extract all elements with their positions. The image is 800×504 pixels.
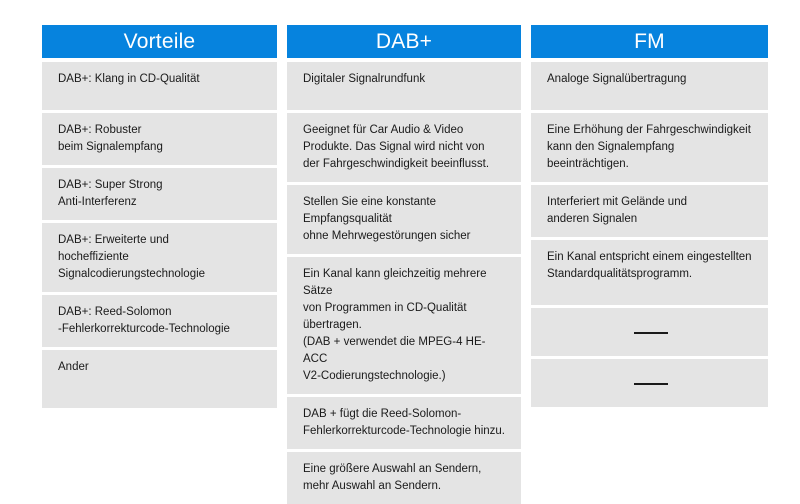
table-cell: Analoge Signalübertragung: [531, 62, 768, 110]
em-dash-icon: [634, 383, 668, 385]
table-cell: DAB+: Reed-Solomon -Fehlerkorrekturcode-…: [42, 295, 277, 347]
em-dash-icon: [634, 332, 668, 334]
table-cell: Ein Kanal entspricht einem eingestellten…: [531, 240, 768, 305]
table-cell: DAB+: Super Strong Anti-Interferenz: [42, 168, 277, 220]
table-cell: DAB+: Robuster beim Signalempfang: [42, 113, 277, 165]
column-header: Vorteile: [42, 25, 277, 58]
table-column: VorteileDAB+: Klang in CD-QualitätDAB+: …: [42, 25, 277, 408]
table-cell: Digitaler Signalrundfunk: [287, 62, 521, 110]
comparison-table: VorteileDAB+: Klang in CD-QualitätDAB+: …: [42, 25, 768, 504]
column-header: FM: [531, 25, 768, 58]
table-cell: Eine größere Auswahl an Sendern, mehr Au…: [287, 452, 521, 504]
table-cell: DAB+: Erweiterte und hocheffiziente Sign…: [42, 223, 277, 292]
table-cell-empty: [531, 308, 768, 356]
table-column: DAB+ Digitaler SignalrundfunkGeeignet fü…: [287, 25, 521, 504]
table-cell: Geeignet für Car Audio & Video Produkte.…: [287, 113, 521, 182]
table-cell: Interferiert mit Gelände und anderen Sig…: [531, 185, 768, 237]
table-cell: DAB + fügt die Reed-Solomon- Fehlerkorre…: [287, 397, 521, 449]
table-cell-empty: [531, 359, 768, 407]
table-cell: Stellen Sie eine konstante Empfangsquali…: [287, 185, 521, 254]
table-cell: Eine Erhöhung der Fahrgeschwindigkeit ka…: [531, 113, 768, 182]
comparison-table-page: VorteileDAB+: Klang in CD-QualitätDAB+: …: [0, 0, 800, 421]
table-cell: Ein Kanal kann gleichzeitig mehrere Sätz…: [287, 257, 521, 394]
table-cell: DAB+: Klang in CD-Qualität: [42, 62, 277, 110]
table-cell: Ander: [42, 350, 277, 408]
column-header: DAB+: [287, 25, 521, 58]
table-column: FM Analoge SignalübertragungEine Erhöhun…: [531, 25, 768, 407]
